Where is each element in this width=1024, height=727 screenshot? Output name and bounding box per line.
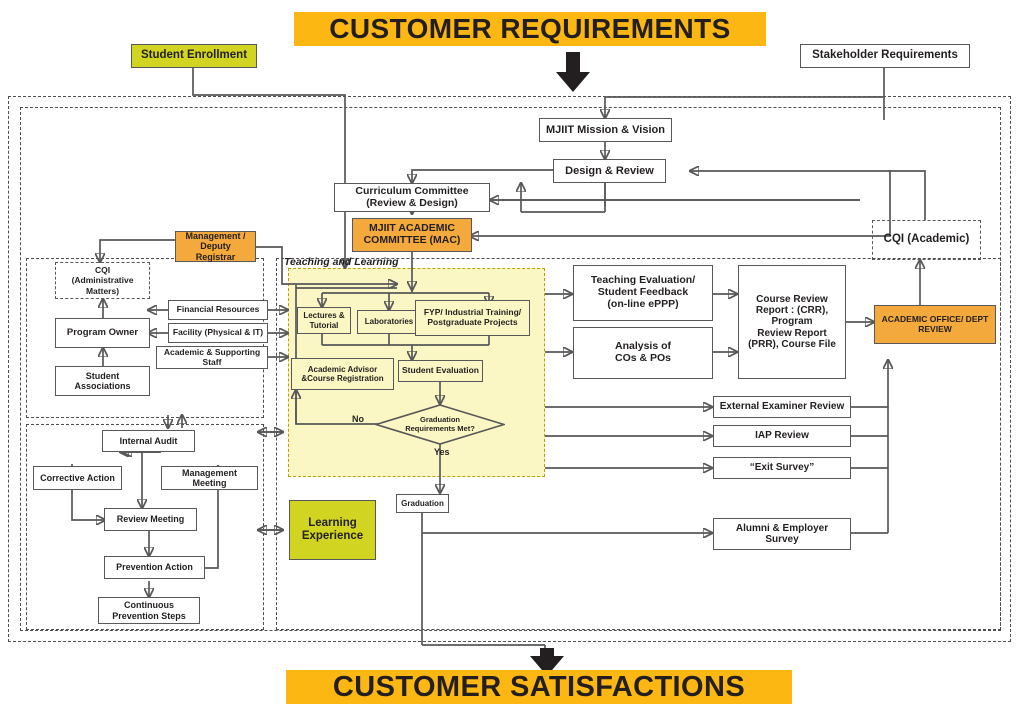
fyp-line-2: Postgraduate Projects [427,318,517,328]
node-review-meeting[interactable]: Review Meeting [104,508,197,531]
crr-line-1: Course Review [756,294,828,305]
advisor-line-1: Academic Advisor [308,365,378,374]
node-cqi-administrative[interactable]: CQI (Administrative Matters) [55,262,150,299]
node-stakeholder-requirements[interactable]: Stakeholder Requirements [800,44,970,68]
node-graduation[interactable]: Graduation [396,494,449,513]
node-teaching-evaluation[interactable]: Teaching Evaluation/ Student Feedback (o… [573,265,713,321]
academic-office-line-2: REVIEW [918,325,952,335]
node-external-examiner-review[interactable]: External Examiner Review [713,396,851,418]
alumni-line-2: Survey [765,534,798,545]
node-student-enrollment[interactable]: Student Enrollment [131,44,257,68]
crr-line-2: Report : (CRR), [756,305,828,316]
node-internal-audit[interactable]: Internal Audit [102,430,195,452]
node-program-owner[interactable]: Program Owner [55,318,150,348]
analysis-line-2: COs & POs [615,353,671,365]
node-corrective-action[interactable]: Corrective Action [33,466,122,490]
label-decision-no: No [352,414,364,424]
node-management-meeting[interactable]: Management Meeting [161,466,258,490]
curriculum-line-2: (Review & Design) [366,198,458,210]
crr-line-3: Program [771,316,812,327]
node-laboratories[interactable]: Laboratories [357,310,421,334]
lectures-line-1: Lectures & [303,311,344,320]
node-prevention-action[interactable]: Prevention Action [104,556,205,579]
node-course-review-report[interactable]: Course Review Report : (CRR), Program Re… [738,265,846,379]
node-management-deputy-registrar[interactable]: Management / Deputy Registrar [175,231,256,262]
cqi-admin-line-1: CQI [95,265,110,275]
node-graduation-requirements-decision[interactable]: Graduation Requirements Met? [375,404,505,445]
node-academic-office-dept-review[interactable]: ACADEMIC OFFICE/ DEPT REVIEW [874,305,996,344]
curriculum-line-1: Curriculum Committee [355,186,468,198]
mgmt-line-2: Registrar [196,252,236,262]
cqi-admin-line-2: (Administrative [72,275,134,285]
crr-line-5: (PRR), Course File [748,339,836,350]
node-curriculum-committee[interactable]: Curriculum Committee (Review & Design) [334,183,490,212]
lectures-line-2: Tutorial [310,321,339,330]
mac-line-2: COMMITTEE (MAC) [364,235,461,247]
continuous-line-2: Prevention Steps [112,611,186,621]
crr-line-4: Review Report [757,328,826,339]
cqi-admin-line-3: Matters) [86,286,119,296]
alumni-line-1: Alumni & Employer [736,523,828,534]
diagram-canvas: CUSTOMER REQUIREMENTS Student Enrollment… [0,0,1024,727]
learning-line-1: Learning [308,517,357,530]
node-analysis-cos-pos[interactable]: Analysis of COs & POs [573,327,713,379]
node-student-associations[interactable]: Student Associations [55,366,150,396]
node-academic-advisor-course-registration[interactable]: Academic Advisor &Course Registration [291,358,394,390]
node-learning-experience[interactable]: Learning Experience [289,500,376,560]
banner-customer-requirements: CUSTOMER REQUIREMENTS [294,12,766,46]
node-continuous-prevention-steps[interactable]: Continuous Prevention Steps [98,597,200,624]
banner-customer-satisfactions: CUSTOMER SATISFACTIONS [286,670,792,704]
advisor-line-2: &Course Registration [301,374,383,383]
decision-line-2: Requirements Met? [405,425,475,434]
node-facility[interactable]: Facility (Physical & IT) [168,323,268,343]
continuous-line-1: Continuous [124,600,174,610]
node-financial-resources[interactable]: Financial Resources [168,300,268,320]
top-arrow-icon [553,52,593,97]
node-design-review[interactable]: Design & Review [553,159,666,183]
learning-line-2: Experience [302,530,363,543]
node-student-evaluation[interactable]: Student Evaluation [398,360,483,382]
label-teaching-and-learning: Teaching and Learning [284,256,399,268]
node-academic-supporting-staff[interactable]: Academic & Supporting Staff [156,346,268,369]
teaching-eval-line-3: (on-line ePPP) [607,299,678,311]
node-lectures-tutorial[interactable]: Lectures & Tutorial [297,307,351,334]
node-mission-vision[interactable]: MJIIT Mission & Vision [539,118,672,142]
node-mjiit-academic-committee[interactable]: MJIIT ACADEMIC COMMITTEE (MAC) [352,218,472,252]
node-iap-review[interactable]: IAP Review [713,425,851,447]
label-decision-yes: Yes [434,447,450,457]
mgmt-line-1: Management / Deputy [179,231,252,252]
node-exit-survey[interactable]: “Exit Survey” [713,457,851,479]
node-cqi-academic[interactable]: CQI (Academic) [872,220,981,260]
node-alumni-employer-survey[interactable]: Alumni & Employer Survey [713,518,851,550]
node-fyp-industrial-training[interactable]: FYP/ Industrial Training/ Postgraduate P… [415,300,530,336]
staff-line-2: Staff [203,358,222,368]
